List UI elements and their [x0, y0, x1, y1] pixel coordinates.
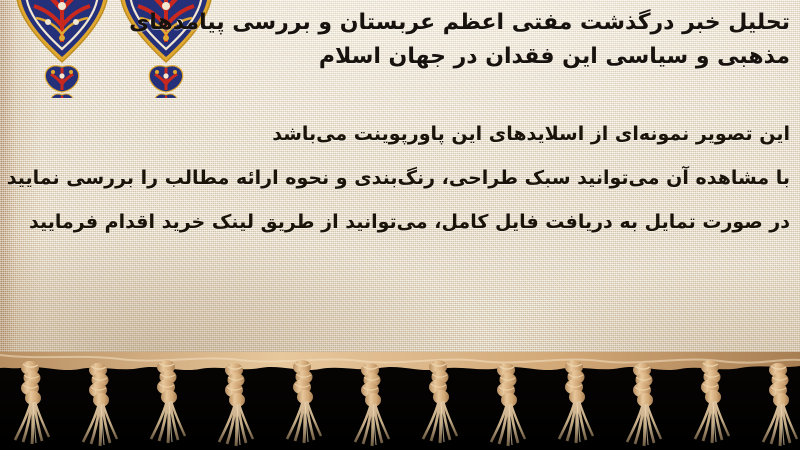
- slide-canvas: تحلیل خبر درگذشت مفتی اعظم عربستان و برر…: [0, 0, 800, 450]
- title-line-1: تحلیل خبر درگذشت مفتی اعظم عربستان و برر…: [0, 6, 790, 40]
- tassel-6: [355, 363, 389, 446]
- body-line-3: در صورت تمایل به دریافت فایل کامل، می‌تو…: [0, 200, 790, 244]
- body-line-1: این تصویر نمونه‌ای از اسلایدهای این پاور…: [0, 112, 790, 156]
- slide-title: تحلیل خبر درگذشت مفتی اعظم عربستان و برر…: [0, 6, 790, 74]
- tassel-10: [627, 363, 661, 446]
- body-line-2: با مشاهده آن می‌توانید سبک طراحی، رنگ‌بن…: [0, 156, 790, 200]
- slide-body: این تصویر نمونه‌ای از اسلایدهای این پاور…: [0, 112, 790, 244]
- title-line-2: مذهبی و سیاسی این فقدان در جهان اسلام: [0, 40, 790, 74]
- tassel-8: [491, 363, 525, 446]
- tassel-2: [83, 363, 117, 446]
- tassel-12: [763, 363, 797, 446]
- tassel-4: [219, 363, 253, 446]
